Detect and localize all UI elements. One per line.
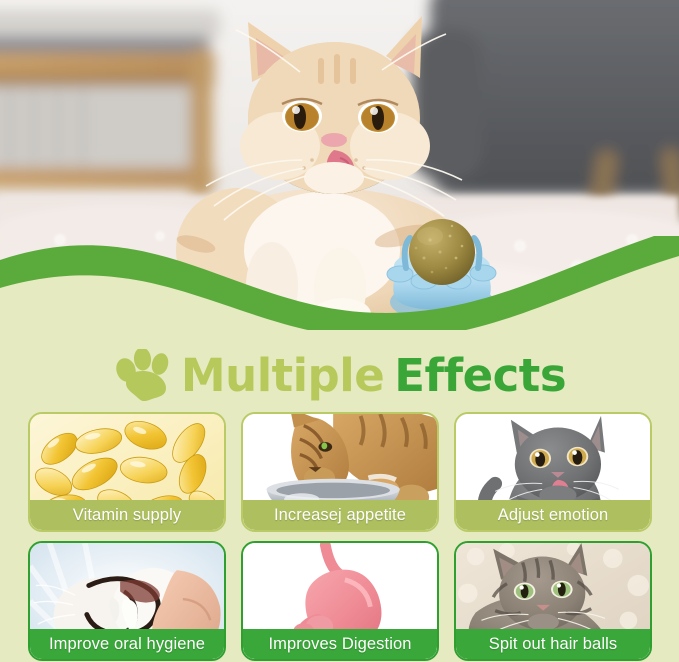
feature-card-oral-hygiene[interactable]: Improve oral hygiene (28, 541, 226, 661)
feature-label: Increasej appetite (243, 500, 437, 530)
paw-print-icon (113, 349, 175, 401)
heading-text: MultipleEffects (181, 353, 566, 398)
feature-label: Spit out hair balls (456, 629, 650, 659)
heading-word-two: Effects (394, 349, 566, 402)
feature-card-adjust-emotion[interactable]: Adjust emotion (454, 412, 652, 532)
feature-card-spit-out-hair-balls[interactable]: Spit out hair balls (454, 541, 652, 661)
hero-photo (0, 0, 679, 320)
hero-photo-illustration (0, 0, 679, 320)
section-heading: MultipleEffects (0, 342, 679, 408)
feature-card-improves-digestion[interactable]: Improves Digestion (241, 541, 439, 661)
feature-label: Improves Digestion (243, 629, 437, 659)
heading-word-one: Multiple (181, 349, 384, 402)
features-panel: MultipleEffects (0, 330, 679, 662)
feature-card-increase-appetite[interactable]: Increasej appetite (241, 412, 439, 532)
feature-label: Vitamin supply (30, 500, 224, 530)
feature-card-vitamin-supply[interactable]: Vitamin supply (28, 412, 226, 532)
kitten-eye-left (529, 449, 551, 468)
tabby-eye-right (551, 581, 573, 598)
features-grid: Vitamin supply (28, 412, 652, 661)
infographic-root: MultipleEffects (0, 0, 679, 662)
feature-label: Improve oral hygiene (30, 629, 224, 659)
tabby-eye-left (514, 583, 536, 600)
kitten-eye-right (567, 447, 589, 466)
feature-label: Adjust emotion (456, 500, 650, 530)
